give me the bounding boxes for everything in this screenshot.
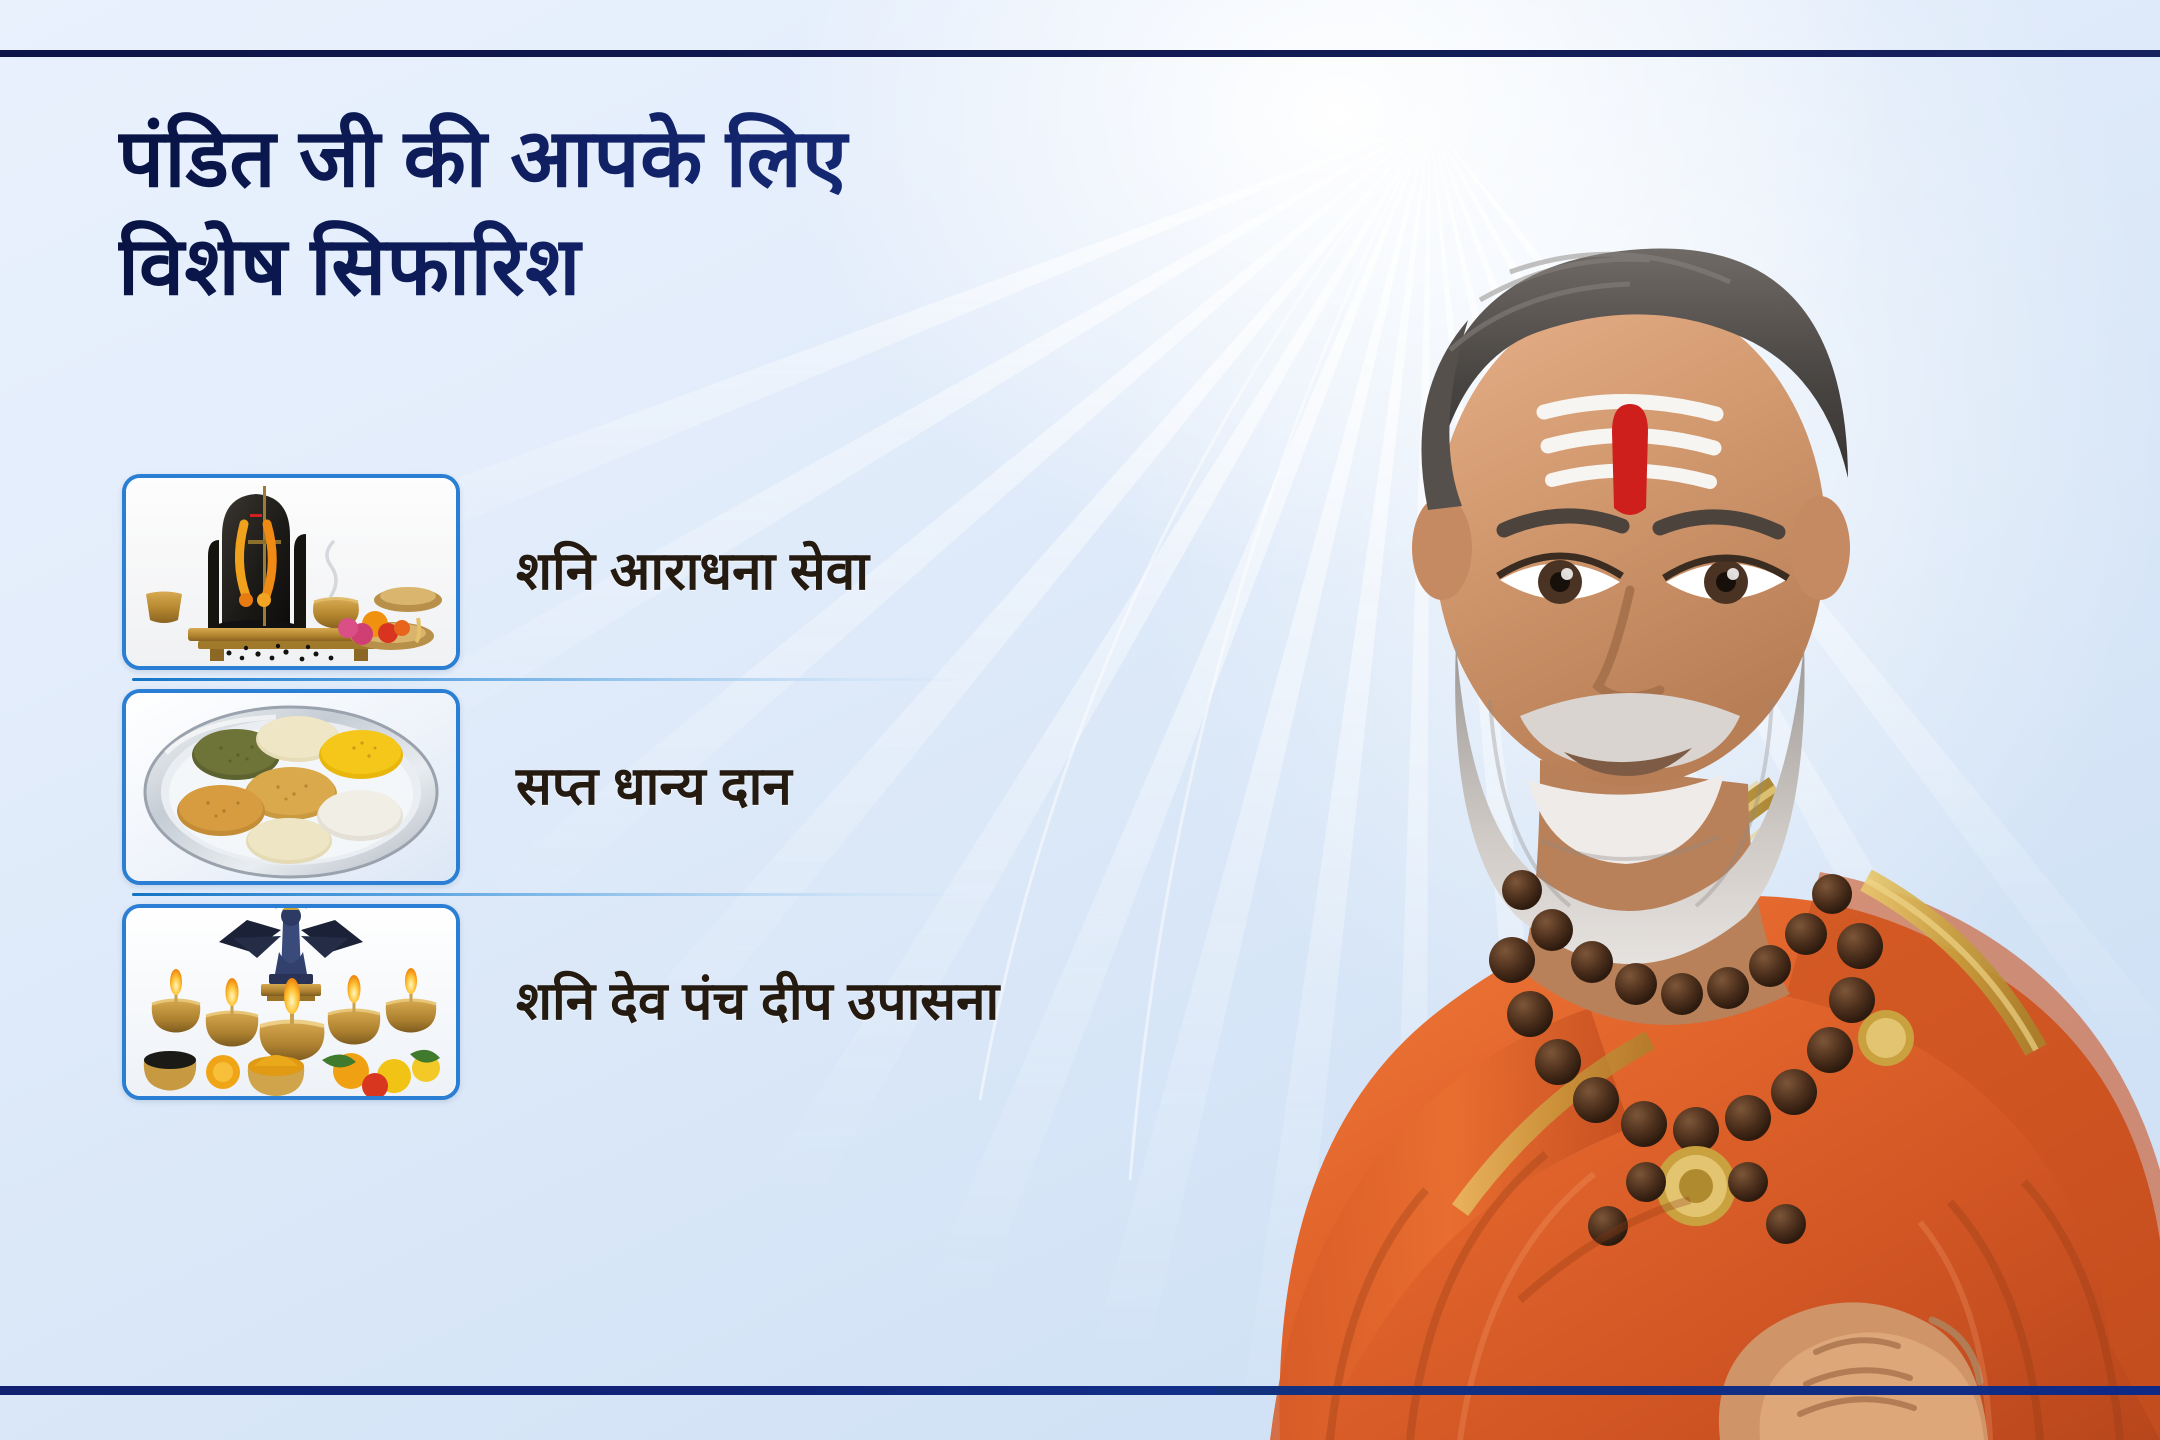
headline-line-2: विशेष सिफारिश [118, 214, 1258, 322]
list-item[interactable]: शनि देव पंच दीप उपासना [122, 896, 1122, 1108]
list-item[interactable]: शनि आराधना सेवा [122, 466, 1122, 678]
pandit-ji-portrait [1160, 0, 2160, 1440]
offer-label: शनि देव पंच दीप उपासना [516, 970, 999, 1034]
page-title: पंडित जी की आपके लिए विशेष सिफारिश [118, 106, 1258, 321]
offer-list: शनि आराधना सेवा [122, 466, 1122, 1108]
list-item[interactable]: सप्त धान्य दान [122, 681, 1122, 893]
offer-label: सप्त धान्य दान [516, 755, 792, 819]
bottom-rule-divider-right [1215, 1386, 2160, 1395]
headline-line-1: पंडित जी की आपके लिए [118, 106, 1258, 214]
shani-idol-puja-thumbnail[interactable] [122, 474, 460, 670]
seven-grains-thali-thumbnail[interactable] [122, 689, 460, 885]
offer-label: शनि आराधना सेवा [516, 540, 869, 604]
bottom-rule-divider [0, 1386, 1215, 1395]
promo-banner: पंडित जी की आपके लिए विशेष सिफारिश [0, 0, 2160, 1440]
five-diya-shani-thumbnail[interactable] [122, 904, 460, 1100]
